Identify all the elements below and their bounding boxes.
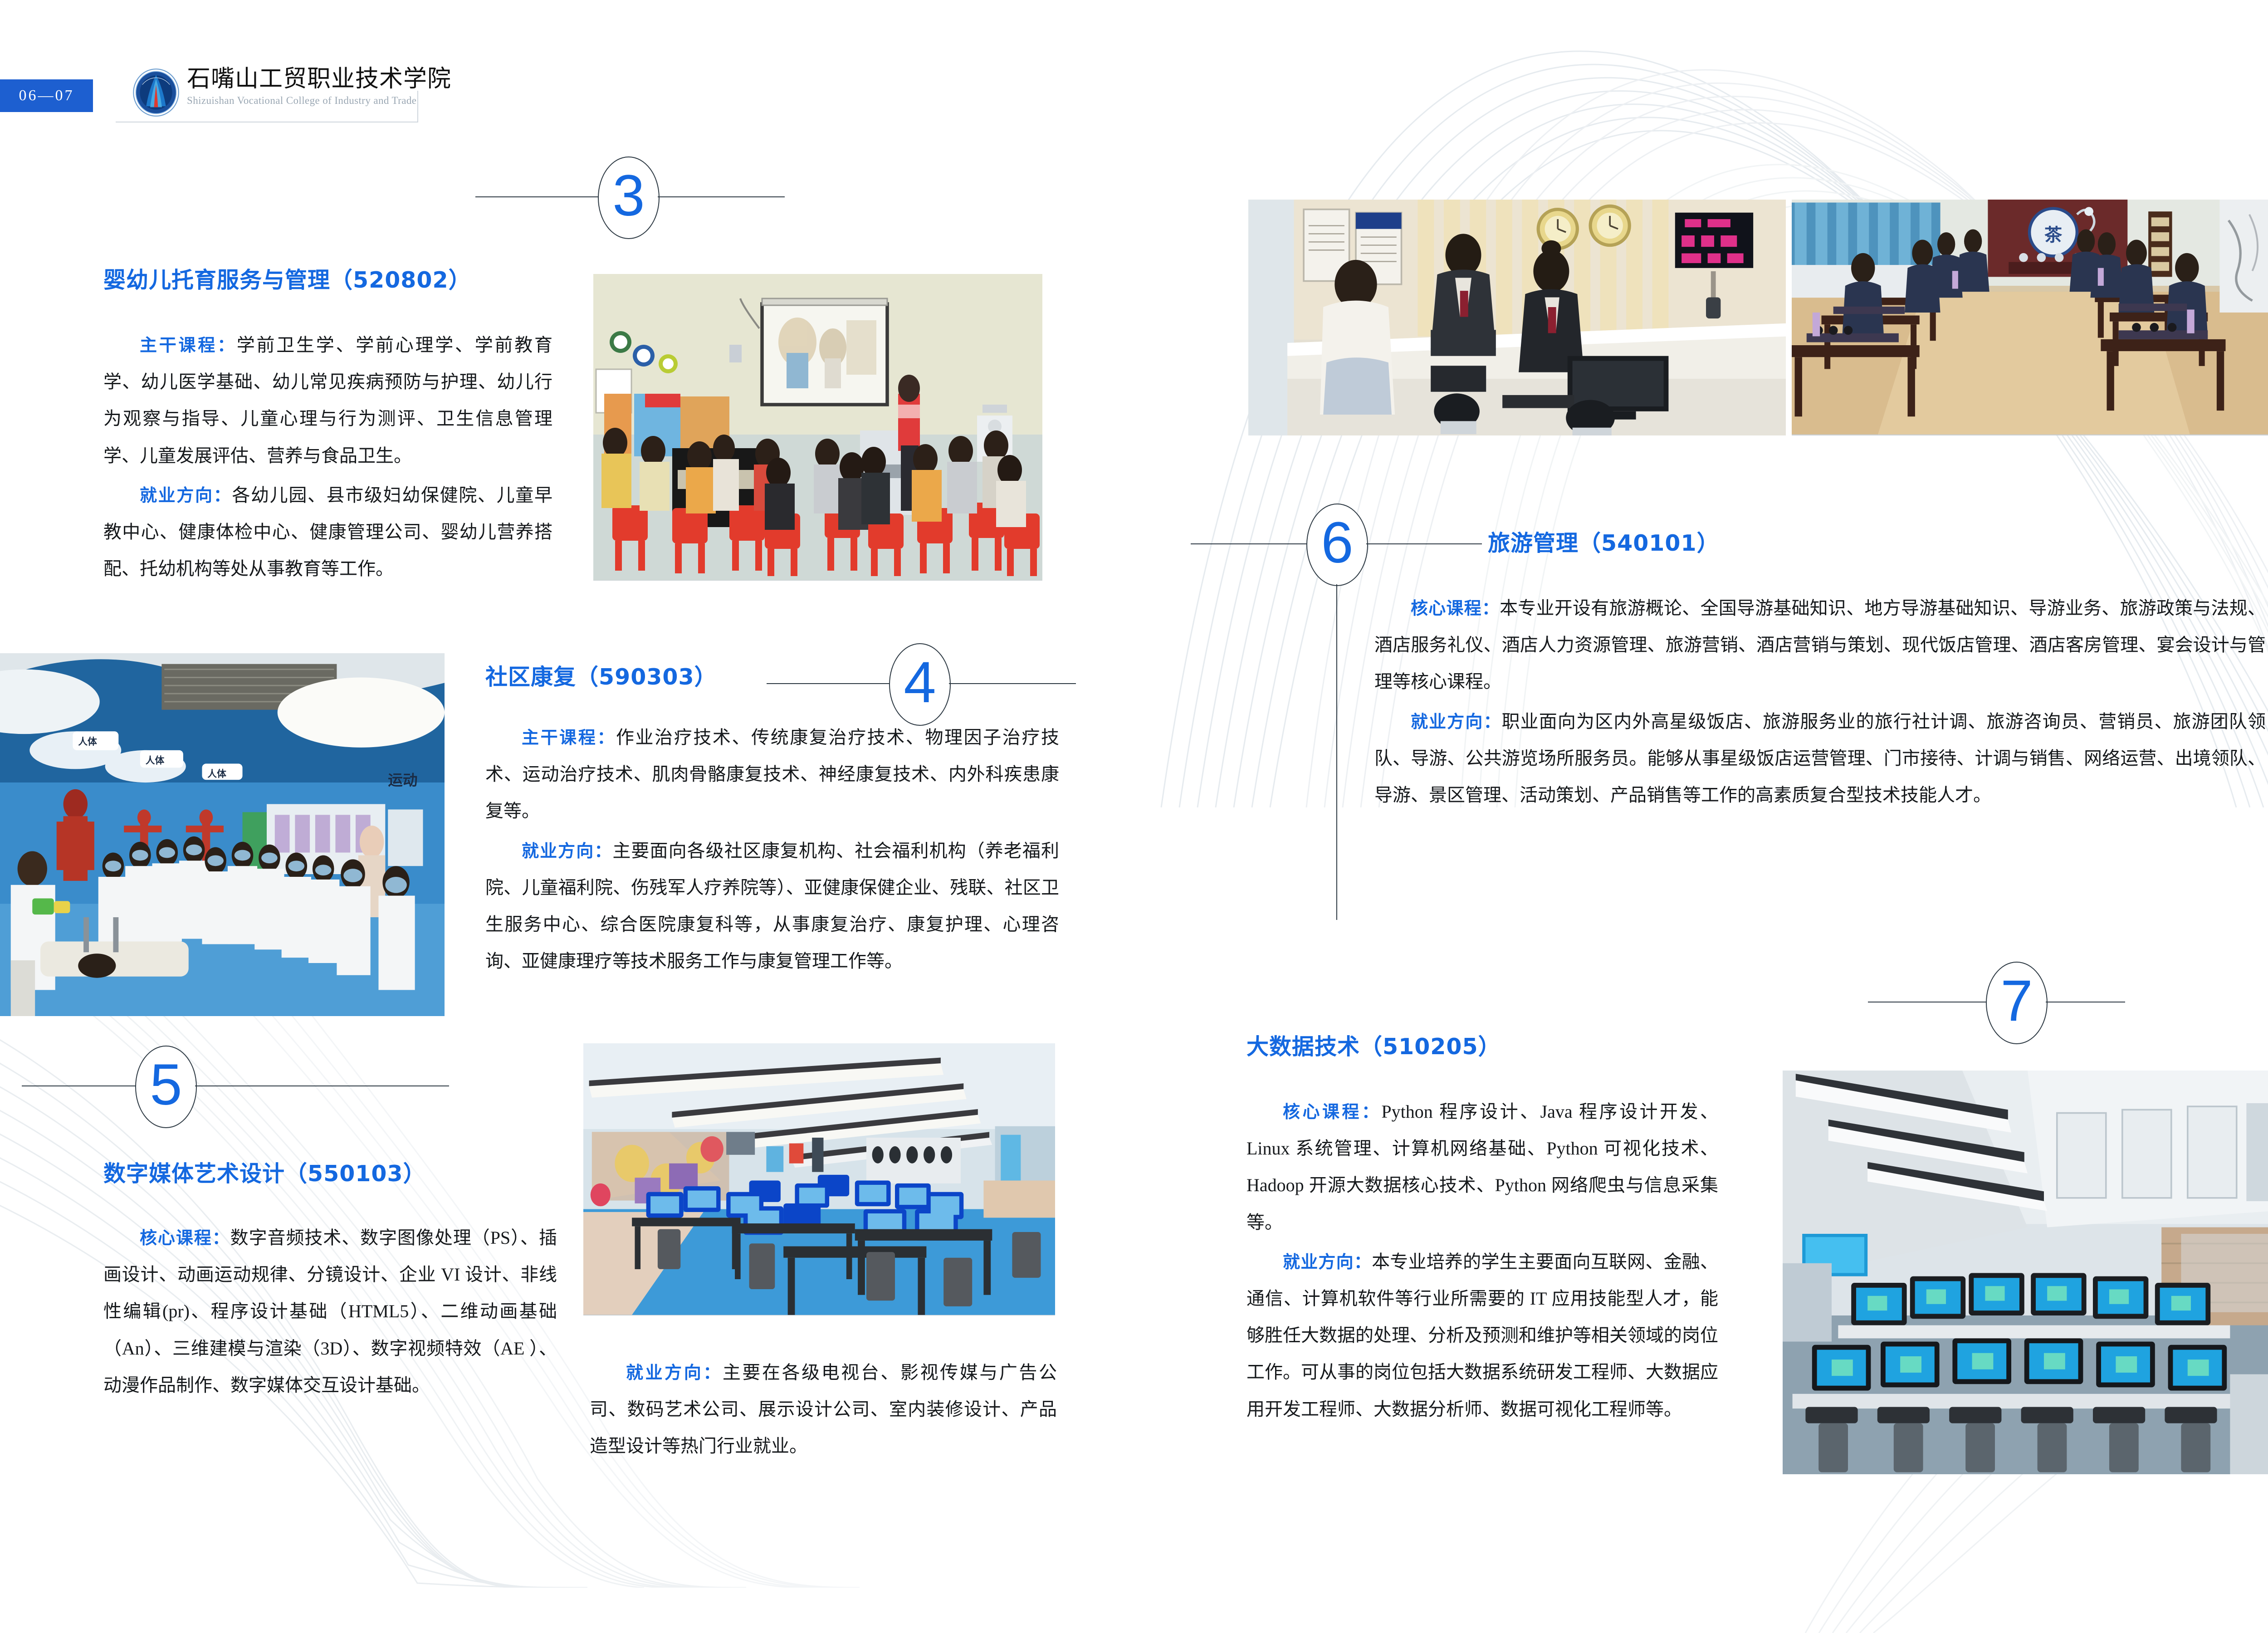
number-3-label: 3 [612,167,645,225]
text-core-courses-5: 数字音频技术、数字图像处理（PS）、插画设计、动画运动规律、分镜设计、企业 VI… [103,1227,557,1395]
label-core-courses-6: 核心课程： [1411,598,1500,618]
label-core-courses-3: 主干课程： [140,335,237,355]
major-body-3: 主干课程：学前卫生学、学前心理学、学前教育学、幼儿医学基础、幼儿常见疾病预防与护… [103,327,552,590]
svg-text:人体: 人体 [146,755,165,766]
svg-text:人体: 人体 [207,768,226,779]
text-employment-6: 职业面向为区内外高星级饭店、旅游服务业的旅行社计调、旅游咨询员、营销员、旅游团队… [1374,711,2266,805]
label-core-courses-4: 主干课程： [522,728,616,748]
photo-hotel-reception-lab [1248,200,1786,435]
photo-tea-ceremony-room: 茶 [1792,200,2268,435]
label-core-courses-5: 核心课程： [140,1228,230,1248]
label-employment-3: 就业方向： [140,485,232,505]
major-body-4: 主干课程：作业治疗技术、传统康复治疗技术、物理因子治疗技术、运动治疗技术、肌肉骨… [485,719,1059,982]
text-employment-7: 本专业培养的学生主要面向互联网、金融、通信、计算机软件等行业所需要的 IT 应用… [1246,1252,1718,1419]
number-6-label: 6 [1321,514,1353,572]
photo-digital-media-classroom [583,1043,1055,1315]
major-body-7: 核心课程：Python 程序设计、Java 程序设计开发、Linux 系统管理、… [1246,1093,1718,1430]
college-name-en: Shizuishan Vocational College of Industr… [187,95,451,107]
section-number-3: 3 [598,156,816,237]
number-5-label: 5 [150,1056,182,1114]
svg-text:茶: 茶 [2044,225,2063,246]
photo-kindergarten-classroom [593,274,1042,581]
label-employment-4: 就业方向： [522,841,612,861]
major-title-7: 大数据技术（510205） [1246,1029,1501,1061]
major-title-4: 社区康复（590303） [485,659,717,691]
major-title-5: 数字媒体艺术设计（550103） [103,1156,426,1188]
major-body-6: 核心课程：本专业开设有旅游概论、全国导游基础知识、地方导游基础知识、导游业务、旅… [1374,590,2266,816]
major-title-3: 婴幼儿托育服务与管理（520802） [103,262,471,294]
college-logo-block: 石嘴山工贸职业技术学院 Shizuishan Vocational Colleg… [132,67,451,122]
header-divider-line [116,122,417,122]
brochure-spread: 06—07 石嘴山工贸职业技术学院 Shizuishan Vocational … [0,0,2268,1559]
college-seal-icon [132,68,181,117]
photo-anatomy-rehab-lab: 人体人体人体 运动 [0,653,445,1016]
major-body-5-core: 核心课程：数字音频技术、数字图像处理（PS）、插画设计、动画运动规律、分镜设计、… [103,1219,557,1406]
number-4-label: 4 [904,654,936,712]
label-core-courses-7: 核心课程： [1283,1102,1381,1122]
label-employment-6: 就业方向： [1411,712,1502,732]
label-employment-7: 就业方向： [1283,1252,1372,1272]
section-number-7: 7 [1986,962,2204,1042]
page-number-badge: 06—07 [0,79,93,112]
label-employment-5: 就业方向： [626,1363,723,1383]
section-number-5: 5 [135,1046,453,1126]
major-body-5-employment: 就业方向：主要在各级电视台、影视传媒与广告公司、数码艺术公司、展示设计公司、室内… [590,1354,1057,1467]
major-title-6: 旅游管理（540101） [1488,525,1720,557]
text-core-courses-6: 本专业开设有旅游概论、全国导游基础知识、地方导游基础知识、导游业务、旅游政策与法… [1374,598,2266,692]
section-number-4: 4 [889,643,1107,724]
college-name-cn: 石嘴山工贸职业技术学院 [187,67,451,92]
svg-text:人体: 人体 [78,736,97,747]
photo-bigdata-computer-lab [1783,1071,2268,1474]
number-7-label: 7 [2000,972,2033,1030]
svg-text:运动: 运动 [388,772,417,789]
